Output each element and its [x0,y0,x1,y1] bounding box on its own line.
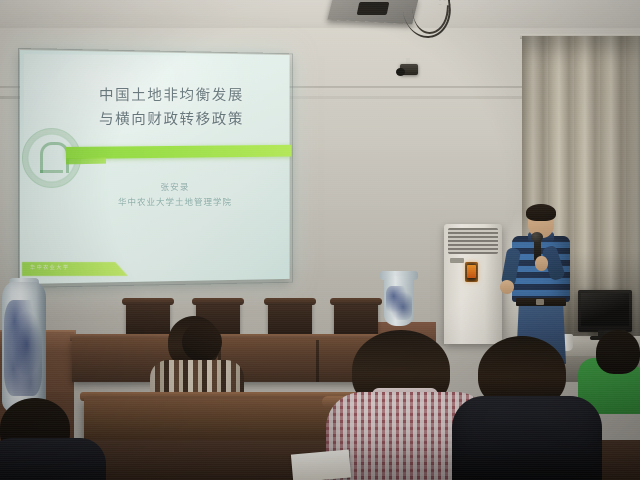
university-seal-arch-icon [40,142,69,173]
right-vase-pattern [386,286,412,320]
notebook-paper [291,450,351,480]
microphone-head-icon [531,232,543,242]
slide-author: 张安录 [100,181,250,193]
audience-dark-top [0,438,106,480]
slide-accent-band-tail [66,158,106,165]
university-seal-base-icon [40,170,63,173]
audience-dark-shirt [452,396,602,480]
presenter-right-hand [535,256,548,271]
chair-top-rail [264,298,316,305]
lecture-hall-photo: 中国土地非均衡发展 与横向财政转移政策 张安录 华中农业大学土地管理学院 华中农… [0,0,640,480]
slide-title-line-1: 中国土地非均衡发展 [64,84,279,105]
projector-lens-icon [357,2,390,15]
chair-back [268,300,312,334]
bench-divider [316,340,319,382]
air-conditioner-display-glow [467,265,476,278]
presenter-belt-buckle [536,299,544,305]
slide-footer-text: 华中农业大学 [30,264,120,271]
audience-head [596,330,640,374]
presenter-hair [526,204,556,221]
chair-back [334,300,378,334]
chair-top-rail [122,298,174,305]
air-conditioner-brand-logo [450,258,464,263]
chair-back [126,300,170,334]
left-vase-pattern [4,300,42,396]
chair-top-rail [330,298,382,305]
presenter-left-hand [500,280,514,294]
air-conditioner-grille [448,228,498,254]
monitor-screen [581,293,629,326]
slide-title-line-2: 与横向财政转移政策 [64,108,279,129]
camera-lens-icon [396,68,405,76]
chair-top-rail [192,298,244,305]
slide-affiliation: 华中农业大学土地管理学院 [82,196,268,208]
audience-hair [182,322,222,362]
